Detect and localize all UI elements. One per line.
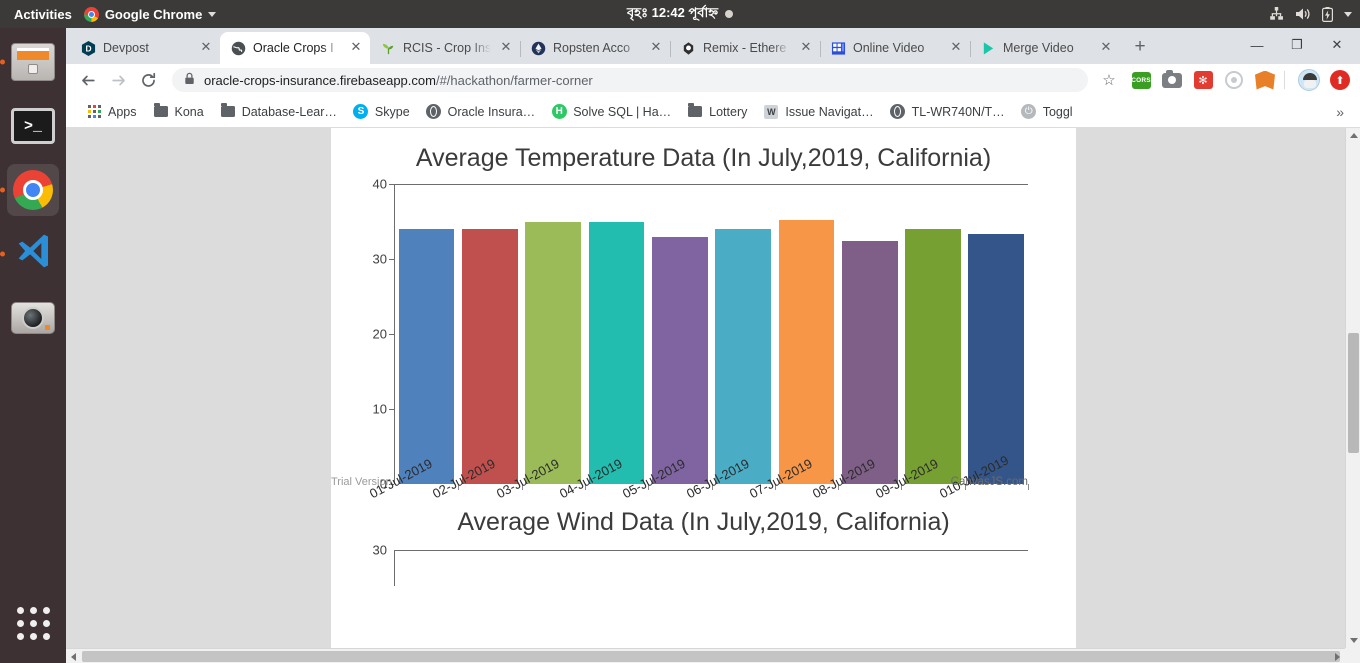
tab-label: Oracle Crops I	[253, 41, 341, 55]
tab-label: Online Video	[853, 41, 941, 55]
y-tick-label: 20	[373, 327, 387, 342]
url-text: oracle-crops-insurance.firebaseapp.com/#…	[204, 73, 593, 88]
ethereum-icon	[530, 40, 546, 56]
url-path: /#/hackathon/farmer-corner	[436, 73, 593, 88]
scroll-down-icon[interactable]	[1346, 633, 1360, 648]
system-tray[interactable]	[1269, 7, 1352, 22]
activities-button[interactable]: Activities	[0, 7, 84, 22]
folder-icon	[220, 104, 236, 120]
volume-icon	[1295, 7, 1311, 21]
tab-online-video[interactable]: Online Video ✕	[820, 32, 970, 64]
camera-icon	[11, 302, 55, 334]
tab-label: RCIS - Crop Ins	[403, 41, 491, 55]
y-tick-mark	[389, 184, 394, 185]
farmer-corner-panel: Average Temperature Data (In July,2019, …	[331, 128, 1076, 648]
bookmark-toggl[interactable]: ⏻ Toggl	[1013, 101, 1081, 123]
scrollbar-corner	[1345, 648, 1360, 663]
x-tick-mark	[1028, 484, 1029, 490]
top-axis-line	[394, 550, 1028, 551]
temperature-plot-area: 010203040 01-Jul-201902-Jul-201903-Jul-2…	[394, 184, 1028, 484]
vscode-icon	[13, 231, 53, 278]
minimize-button[interactable]: —	[1238, 30, 1276, 60]
bookmark-label: Oracle Insura…	[448, 105, 536, 119]
tab-close-icon[interactable]: ✕	[198, 40, 214, 56]
wind-plot-area: 30	[394, 550, 1028, 586]
bookmark-label: Toggl	[1043, 105, 1073, 119]
tab-oracle-crops[interactable]: Oracle Crops I ✕	[220, 32, 370, 64]
tab-devpost[interactable]: D Devpost ✕	[70, 32, 220, 64]
bar[interactable]	[525, 222, 581, 485]
upload-arrow-icon[interactable]: ⬆	[1328, 68, 1352, 92]
bookmark-label: TL-WR740N/T…	[912, 105, 1005, 119]
toolbar-divider	[1284, 71, 1285, 89]
sprout-icon	[380, 40, 396, 56]
dock-item-visual-studio-code[interactable]	[7, 228, 59, 280]
bar-cell	[711, 184, 774, 484]
tab-close-icon[interactable]: ✕	[648, 40, 664, 56]
globe-icon	[426, 104, 442, 120]
bookmark-label: Issue Navigat…	[785, 105, 873, 119]
folder-icon	[687, 104, 703, 120]
chrome-window: D Devpost ✕ Oracle Crops I ✕ RCIS - Crop…	[66, 28, 1360, 663]
bar[interactable]	[842, 241, 898, 484]
cors-extension-icon[interactable]: CORS	[1129, 68, 1153, 92]
bookmark-label: Solve SQL | Ha…	[573, 105, 671, 119]
network-icon	[1269, 7, 1284, 21]
ionic-circle-icon[interactable]	[1222, 68, 1246, 92]
vertical-scrollbar[interactable]	[1345, 128, 1360, 648]
bookmark-label: Kona	[175, 105, 204, 119]
bar[interactable]	[462, 229, 518, 484]
system-menu-chevron-icon[interactable]	[1344, 12, 1352, 17]
tab-label: Ropsten Acco	[553, 41, 641, 55]
tab-label: Devpost	[103, 41, 191, 55]
files-icon	[11, 43, 55, 81]
red-extension-icon[interactable]: ✻	[1191, 68, 1215, 92]
horizontal-scrollbar[interactable]	[66, 648, 1360, 663]
maximize-button[interactable]: ❐	[1278, 30, 1316, 60]
tab-close-icon[interactable]: ✕	[498, 40, 514, 56]
tab-rcis-crop-insurance[interactable]: RCIS - Crop Ins ✕	[370, 32, 520, 64]
hackerrank-icon: H	[551, 104, 567, 120]
bar-cell	[965, 184, 1028, 484]
bookmark-skype[interactable]: S Skype	[345, 101, 418, 123]
bar-cell	[838, 184, 901, 484]
y-axis	[394, 550, 395, 586]
scroll-up-icon[interactable]	[1346, 128, 1360, 143]
film-icon	[830, 40, 846, 56]
bookmark-oracle-insurance[interactable]: Oracle Insura…	[418, 101, 544, 123]
bookmark-label: Apps	[108, 105, 137, 119]
show-applications-button[interactable]	[7, 597, 59, 649]
skype-icon: S	[353, 104, 369, 120]
tab-label: Remix - Ethere	[703, 41, 791, 55]
chart-title: Average Wind Data (In July,2019, Califor…	[331, 506, 1076, 538]
temperature-chart: Average Temperature Data (In July,2019, …	[331, 128, 1076, 484]
bar[interactable]	[905, 229, 961, 484]
devpost-icon: D	[80, 40, 96, 56]
forward-button[interactable]	[104, 66, 132, 94]
bookmark-tl-wr740n[interactable]: TL-WR740N/T…	[882, 101, 1013, 123]
app-menu-label: Google Chrome	[105, 7, 203, 22]
y-tick-mark	[389, 409, 394, 410]
tab-close-icon[interactable]: ✕	[1098, 40, 1114, 56]
y-tick-mark	[389, 259, 394, 260]
bar-cell	[522, 184, 585, 484]
tab-label: Merge Video	[1003, 41, 1091, 55]
bar[interactable]	[399, 229, 455, 484]
bar-cell	[395, 184, 458, 484]
bar-cell	[775, 184, 838, 484]
ubuntu-dock: >_	[0, 28, 66, 663]
bar-cell	[585, 184, 648, 484]
running-indicator-icon	[0, 188, 5, 193]
bookmark-label: Skype	[375, 105, 410, 119]
dock-item-google-chrome[interactable]	[7, 164, 59, 216]
toggl-icon: ⏻	[1021, 104, 1037, 120]
bookmark-label: Lottery	[709, 105, 747, 119]
chrome-icon	[84, 7, 99, 22]
chevron-down-icon	[208, 12, 216, 17]
vertical-scrollbar-thumb[interactable]	[1348, 333, 1359, 453]
bookmark-apps[interactable]: Apps	[78, 101, 145, 123]
battery-charging-icon	[1322, 7, 1333, 22]
remix-icon	[680, 40, 696, 56]
bar[interactable]	[779, 220, 835, 484]
bookmark-lottery[interactable]: Lottery	[679, 101, 755, 123]
y-tick-mark	[389, 334, 394, 335]
tab-ropsten-account[interactable]: Ropsten Acco ✕	[520, 32, 670, 64]
y-tick-label: 30	[373, 252, 387, 267]
folder-icon	[153, 104, 169, 120]
play-icon	[980, 40, 996, 56]
apps-grid-icon	[17, 607, 50, 640]
page-content: Average Temperature Data (In July,2019, …	[66, 128, 1345, 648]
running-indicator-icon	[0, 60, 5, 65]
tab-merge-video[interactable]: Merge Video ✕	[970, 32, 1120, 64]
tab-remix-ethereum[interactable]: Remix - Ethere ✕	[670, 32, 820, 64]
bookmark-star-icon[interactable]: ☆	[1096, 67, 1122, 93]
bar[interactable]	[652, 237, 708, 485]
bookmark-database-learning[interactable]: Database-Lear…	[212, 101, 345, 123]
profile-avatar-icon[interactable]	[1297, 68, 1321, 92]
bookmark-label: Database-Lear…	[242, 105, 337, 119]
tab-close-icon[interactable]: ✕	[348, 40, 364, 56]
bar[interactable]	[968, 234, 1024, 485]
bookmarks-overflow-button[interactable]: »	[1328, 104, 1352, 120]
dock-item-camera[interactable]	[7, 292, 59, 344]
window-controls: — ❐ ✕	[1238, 30, 1356, 60]
back-button[interactable]	[74, 66, 102, 94]
tab-strip: D Devpost ✕ Oracle Crops I ✕ RCIS - Crop…	[66, 28, 1360, 64]
apps-grid-icon	[86, 104, 102, 120]
scroll-right-icon[interactable]	[1330, 649, 1345, 663]
scroll-left-icon[interactable]	[66, 649, 81, 663]
bar-cell	[648, 184, 711, 484]
globe-icon	[890, 104, 906, 120]
bookmark-issue-navigator[interactable]: W Issue Navigat…	[755, 101, 881, 123]
dock-item-terminal[interactable]: >_	[7, 100, 59, 152]
bar-cell	[458, 184, 521, 484]
globe-icon	[230, 40, 246, 56]
browser-toolbar: oracle-crops-insurance.firebaseapp.com/#…	[66, 64, 1360, 96]
terminal-icon: >_	[11, 108, 55, 144]
tab-close-icon[interactable]: ✕	[798, 40, 814, 56]
close-window-button[interactable]: ✕	[1318, 30, 1356, 60]
trial-version-watermark: Trial Version	[331, 476, 392, 488]
bar[interactable]	[589, 222, 645, 485]
chrome-icon	[13, 170, 53, 210]
lock-icon	[184, 72, 195, 88]
running-indicator-icon	[0, 252, 5, 257]
wind-chart: Average Wind Data (In July,2019, Califor…	[331, 506, 1076, 586]
clock-label: বৃহঃ 12:42 পূর্বাহ্ন	[627, 4, 718, 25]
gnome-top-bar: Activities Google Chrome বৃহঃ 12:42 পূর্…	[0, 0, 1360, 28]
y-tick-label: 10	[373, 402, 387, 417]
wiki-w-icon: W	[763, 104, 779, 120]
y-tick-label: 40	[373, 177, 387, 192]
recording-indicator-icon	[725, 10, 733, 18]
address-bar[interactable]: oracle-crops-insurance.firebaseapp.com/#…	[172, 68, 1088, 92]
metamask-fox-icon[interactable]	[1253, 68, 1277, 92]
chart-title: Average Temperature Data (In July,2019, …	[331, 128, 1076, 174]
page-viewport: Average Temperature Data (In July,2019, …	[66, 128, 1360, 663]
tab-close-icon[interactable]: ✕	[948, 40, 964, 56]
y-tick-label: 30	[373, 543, 387, 558]
canvasjs-credit: CanvasJS.com	[951, 476, 1028, 488]
bar-series	[395, 184, 1028, 484]
bookmarks-bar: Apps Kona Database-Lear… S Skype Oracle …	[66, 96, 1360, 128]
new-tab-button[interactable]: +	[1126, 33, 1154, 61]
bar[interactable]	[715, 229, 771, 484]
url-domain: oracle-crops-insurance.firebaseapp.com	[204, 73, 436, 88]
dock-item-files[interactable]	[7, 36, 59, 88]
screen: Activities Google Chrome বৃহঃ 12:42 পূর্…	[0, 0, 1360, 663]
bookmark-solve-sql[interactable]: H Solve SQL | Ha…	[543, 101, 679, 123]
horizontal-scrollbar-thumb[interactable]	[82, 651, 1340, 662]
reload-button[interactable]	[134, 66, 162, 94]
bookmark-kona[interactable]: Kona	[145, 101, 212, 123]
svg-text:D: D	[85, 43, 91, 53]
app-menu-google-chrome[interactable]: Google Chrome	[84, 7, 217, 22]
bar-cell	[901, 184, 964, 484]
screenshot-camera-icon[interactable]	[1160, 68, 1184, 92]
